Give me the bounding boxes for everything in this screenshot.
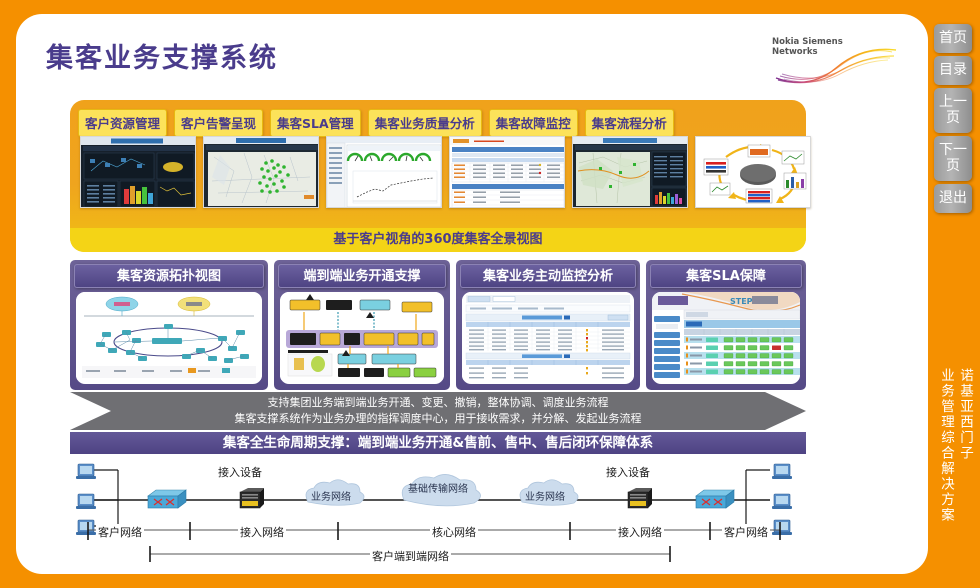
nav-next-button[interactable]: 下一页 — [934, 136, 972, 181]
panel-body-flow — [280, 292, 444, 384]
thumbnail-dark-dashboard[interactable] — [80, 136, 196, 208]
overview-caption: 基于客户视角的360度集客全景视图 — [70, 228, 806, 252]
label-service-network-left: 业务网络 — [311, 488, 351, 503]
lifecycle-banner: 集客全生命周期支撑：端到端业务开通&售前、售中、售后闭环保障体系 — [70, 432, 806, 454]
access-device-icon-left — [240, 488, 264, 508]
label-access-network-left: 接入网络 — [238, 524, 286, 540]
label-access-device-left: 接入设备 — [218, 464, 262, 480]
label-access-device-right: 接入设备 — [606, 464, 650, 480]
label-service-network-right: 业务网络 — [525, 488, 565, 503]
panel-resource-topology[interactable]: 集客资源拓扑视图 — [70, 260, 268, 390]
panel-body-topology — [76, 292, 262, 384]
panel-body-table — [462, 292, 634, 384]
panel-title: 集客业务主动监控分析 — [460, 264, 636, 288]
panel-title: 集客SLA保障 — [650, 264, 802, 288]
arrow-band-line2: 集客支撑系统作为业务办理的指挥调度中心，用于接收需求，并分解、发起业务流程 — [70, 411, 806, 427]
tab-quality-analysis[interactable]: 集客业务质量分析 — [368, 109, 482, 137]
panel-title: 集客资源拓扑视图 — [74, 264, 264, 288]
svg-text:STEP: STEP — [730, 297, 753, 306]
tab-process-analysis[interactable]: 集客流程分析 — [585, 109, 674, 137]
tab-fault-monitor[interactable]: 集客故障监控 — [489, 109, 578, 137]
thumbnail-data-table[interactable] — [449, 136, 565, 208]
label-core-network: 核心网络 — [430, 524, 478, 540]
nav-previous-button[interactable]: 上一页 — [934, 88, 972, 133]
module-tabs: 客户资源管理 客户告警呈现 集客SLA管理 集客业务质量分析 集客故障监控 集客… — [78, 109, 674, 137]
router-icon-left — [148, 490, 186, 508]
side-vertical-solution: 业务管理综合解决方案 — [937, 368, 955, 523]
panel-active-monitoring[interactable]: 集客业务主动监控分析 — [456, 260, 640, 390]
label-customer-network-right: 客户网络 — [722, 524, 770, 540]
nav-exit-button[interactable]: 退出 — [934, 184, 972, 213]
thumbnail-gauges-chart[interactable] — [326, 136, 442, 208]
panel-body-sla: STEP — [652, 292, 800, 384]
thumbnail-workflow-cycle[interactable] — [695, 136, 811, 208]
label-customer-network-left: 客户网络 — [96, 524, 144, 540]
nav-home-button[interactable]: 首页 — [934, 24, 972, 53]
panel-sla-assurance[interactable]: 集客SLA保障 STEP — [646, 260, 806, 390]
label-access-network-right: 接入网络 — [616, 524, 664, 540]
nav-contents-button[interactable]: 目录 — [934, 56, 972, 85]
tab-customer-alarm[interactable]: 客户告警呈现 — [174, 109, 263, 137]
label-transport-network: 基础传输网络 — [408, 480, 468, 495]
network-topology-diagram: 接入设备 接入设备 业务网络 基础传输网络 业务网络 客户网络 接入网络 核心网… — [70, 458, 830, 566]
logo-wave-icon — [770, 46, 902, 86]
panel-e2e-provisioning[interactable]: 端到端业务开通支撑 — [274, 260, 450, 390]
thumbnail-map-panel[interactable] — [572, 136, 688, 208]
top-overview-panel: 客户资源管理 客户告警呈现 集客SLA管理 集客业务质量分析 集客故障监控 集客… — [70, 100, 806, 252]
page-title: 集客业务支撑系统 — [46, 36, 278, 75]
side-navigation: 首页 目录 上一页 下一页 退出 — [934, 24, 972, 213]
thumbnail-map-markers[interactable] — [203, 136, 319, 208]
tab-sla-management[interactable]: 集客SLA管理 — [270, 109, 361, 137]
capability-panels: 集客资源拓扑视图 — [70, 260, 806, 390]
router-icon-right — [696, 490, 734, 508]
access-device-icon-right — [628, 488, 652, 508]
label-end-to-end-network: 客户端到端网络 — [370, 548, 451, 564]
coordination-description-band: 支持集团业务端到端业务开通、变更、撤销，整体协调、调度业务流程 集客支撑系统作为… — [70, 392, 806, 430]
panel-title: 端到端业务开通支撑 — [278, 264, 446, 288]
tab-customer-resource[interactable]: 客户资源管理 — [78, 109, 167, 137]
side-vertical-branding: 诺基亚西门子 业务管理综合解决方案 — [937, 368, 974, 523]
nokia-siemens-networks-logo: Nokia Siemens Networks — [770, 30, 902, 86]
screenshot-thumbnails — [80, 136, 811, 208]
slide-card: 集客业务支撑系统 Nokia Siemens Networks — [16, 14, 928, 574]
side-vertical-company: 诺基亚西门子 — [956, 368, 974, 523]
arrow-band-line1: 支持集团业务端到端业务开通、变更、撤销，整体协调、调度业务流程 — [70, 395, 806, 411]
